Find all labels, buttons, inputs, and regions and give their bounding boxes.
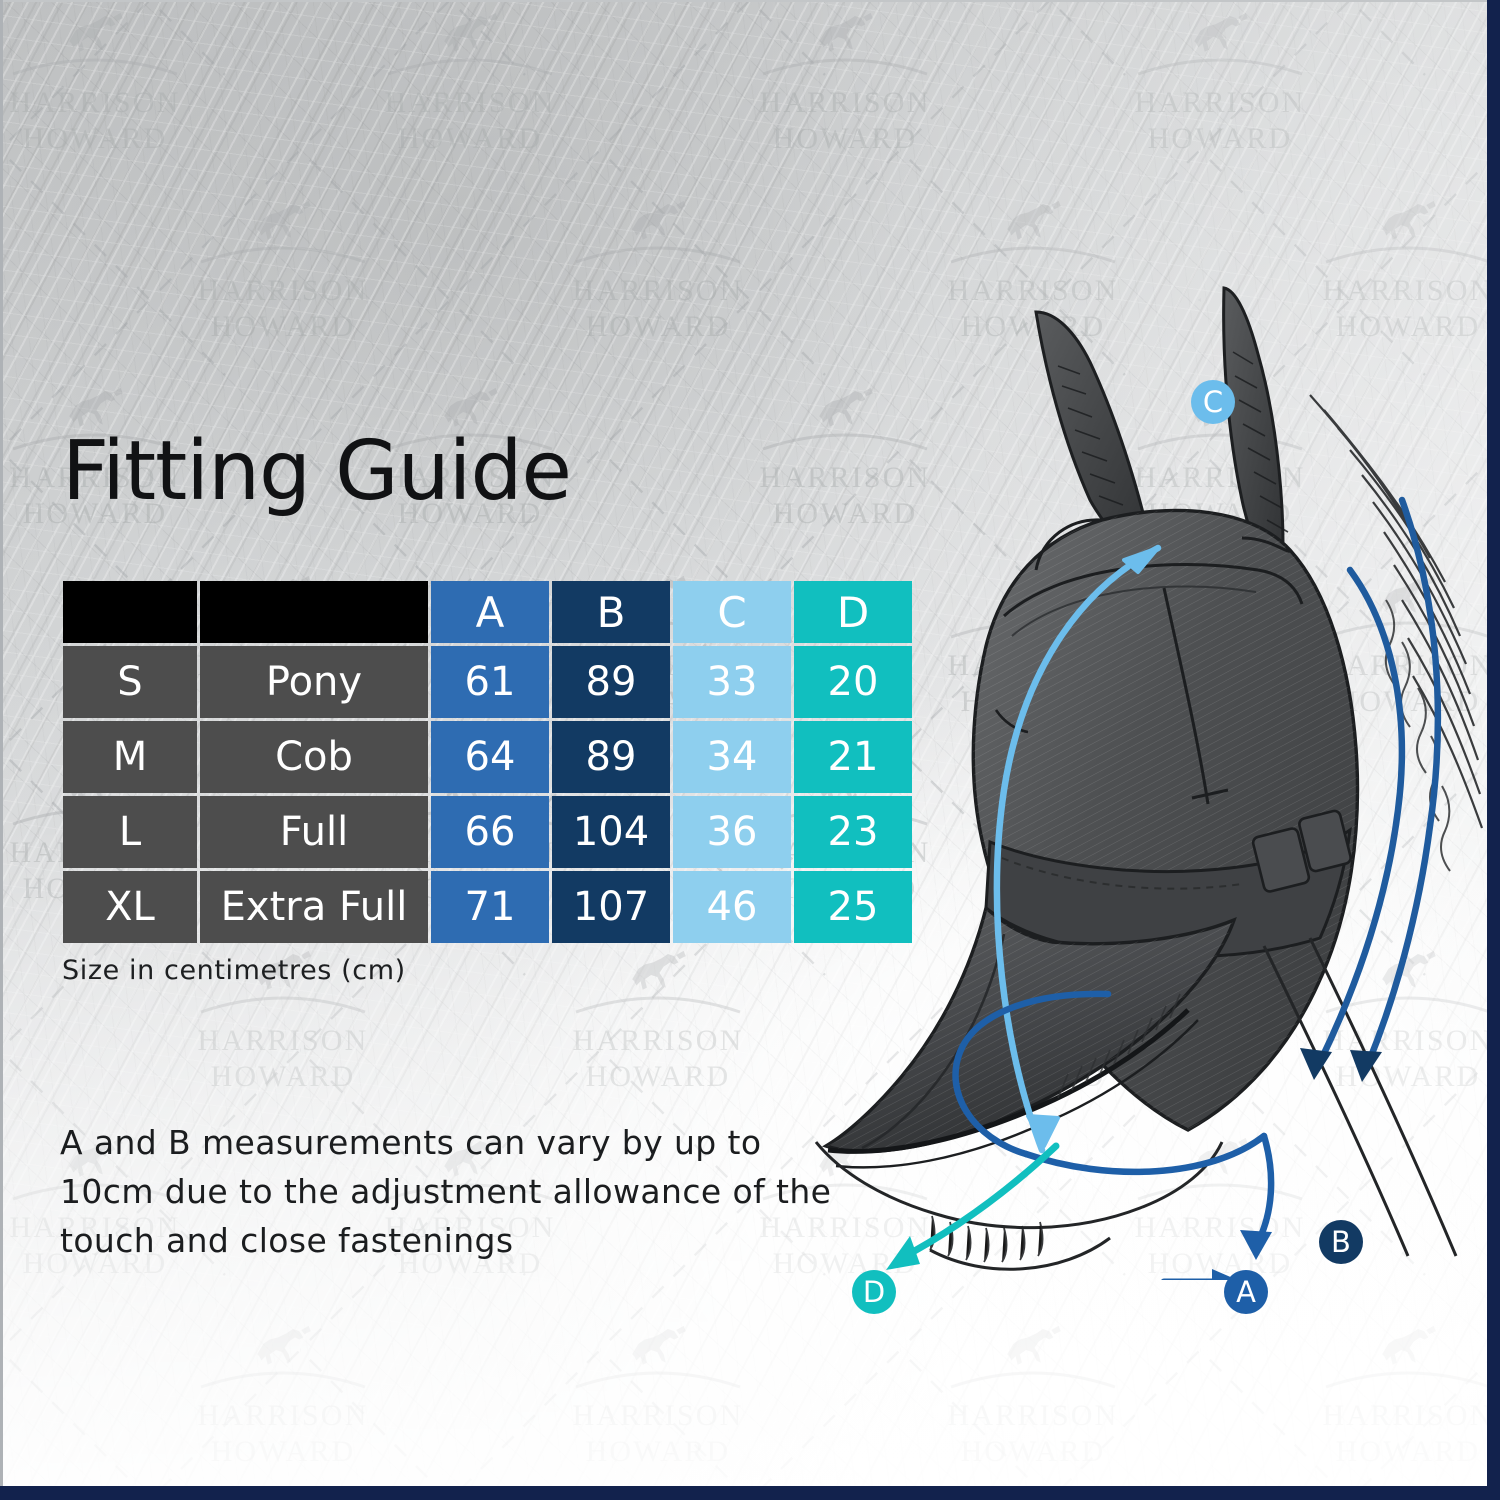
cell-a: 64	[431, 721, 549, 793]
cell-a: 66	[431, 796, 549, 868]
size-chart-table: A B C D S Pony 61 89 33 20 M Cob 64 89 3…	[60, 578, 915, 946]
cell-c: 33	[673, 646, 791, 718]
cell-d: 20	[794, 646, 912, 718]
frame-left	[0, 0, 3, 1500]
marker-c: C	[1191, 380, 1235, 424]
cell-a: 61	[431, 646, 549, 718]
measure-arrow-d-head	[886, 1236, 920, 1270]
header-cell-size	[63, 581, 197, 643]
marker-a-label: A	[1236, 1278, 1256, 1307]
cell-c: 36	[673, 796, 791, 868]
measure-arrow-a-drop	[1258, 1136, 1271, 1242]
header-cell-a: A	[431, 581, 549, 643]
table-row: S Pony 61 89 33 20	[63, 646, 912, 718]
marker-b-label: B	[1331, 1228, 1351, 1257]
header-cell-name	[200, 581, 428, 643]
frame-right	[1487, 0, 1500, 1500]
cell-name: Full	[200, 796, 428, 868]
marker-d-label: D	[863, 1278, 885, 1307]
cell-b: 107	[552, 871, 670, 943]
cell-size: XL	[63, 871, 197, 943]
table-header-row: A B C D	[63, 581, 912, 643]
cell-d: 21	[794, 721, 912, 793]
frame-top	[0, 0, 1500, 2]
whisker-hatch	[930, 1216, 1043, 1262]
marker-a: A	[1224, 1270, 1268, 1314]
cell-b: 89	[552, 721, 670, 793]
cell-d: 25	[794, 871, 912, 943]
marker-c-label: C	[1203, 388, 1223, 417]
cell-name: Pony	[200, 646, 428, 718]
table-row: L Full 66 104 36 23	[63, 796, 912, 868]
marker-b: B	[1319, 1220, 1363, 1264]
chin-curve	[930, 1238, 1110, 1269]
cell-b: 104	[552, 796, 670, 868]
cell-a: 71	[431, 871, 549, 943]
page-title: Fitting Guide	[62, 424, 571, 519]
measure-arrow-a-loop2	[1026, 1136, 1264, 1172]
frame-bottom	[0, 1486, 1500, 1500]
fitting-guide-page: HARRISON HOWARD	[0, 0, 1500, 1500]
header-cell-d: D	[794, 581, 912, 643]
cell-c: 46	[673, 871, 791, 943]
unit-note: Size in centimetres (cm)	[62, 955, 406, 986]
table-row: XL Extra Full 71 107 46 25	[63, 871, 912, 943]
cell-size: L	[63, 796, 197, 868]
measurement-footnote: A and B measurements can vary by up to 1…	[60, 1118, 850, 1265]
cell-c: 34	[673, 721, 791, 793]
marker-d: D	[852, 1270, 896, 1314]
cell-b: 89	[552, 646, 670, 718]
measure-arrow-a-drop-head	[1240, 1230, 1272, 1260]
cell-size: M	[63, 721, 197, 793]
header-cell-b: B	[552, 581, 670, 643]
cell-d: 23	[794, 796, 912, 868]
cell-size: S	[63, 646, 197, 718]
neck-line-back	[1310, 938, 1456, 1256]
header-cell-c: C	[673, 581, 791, 643]
cell-name: Cob	[200, 721, 428, 793]
cell-name: Extra Full	[200, 871, 428, 943]
table-row: M Cob 64 89 34 21	[63, 721, 912, 793]
